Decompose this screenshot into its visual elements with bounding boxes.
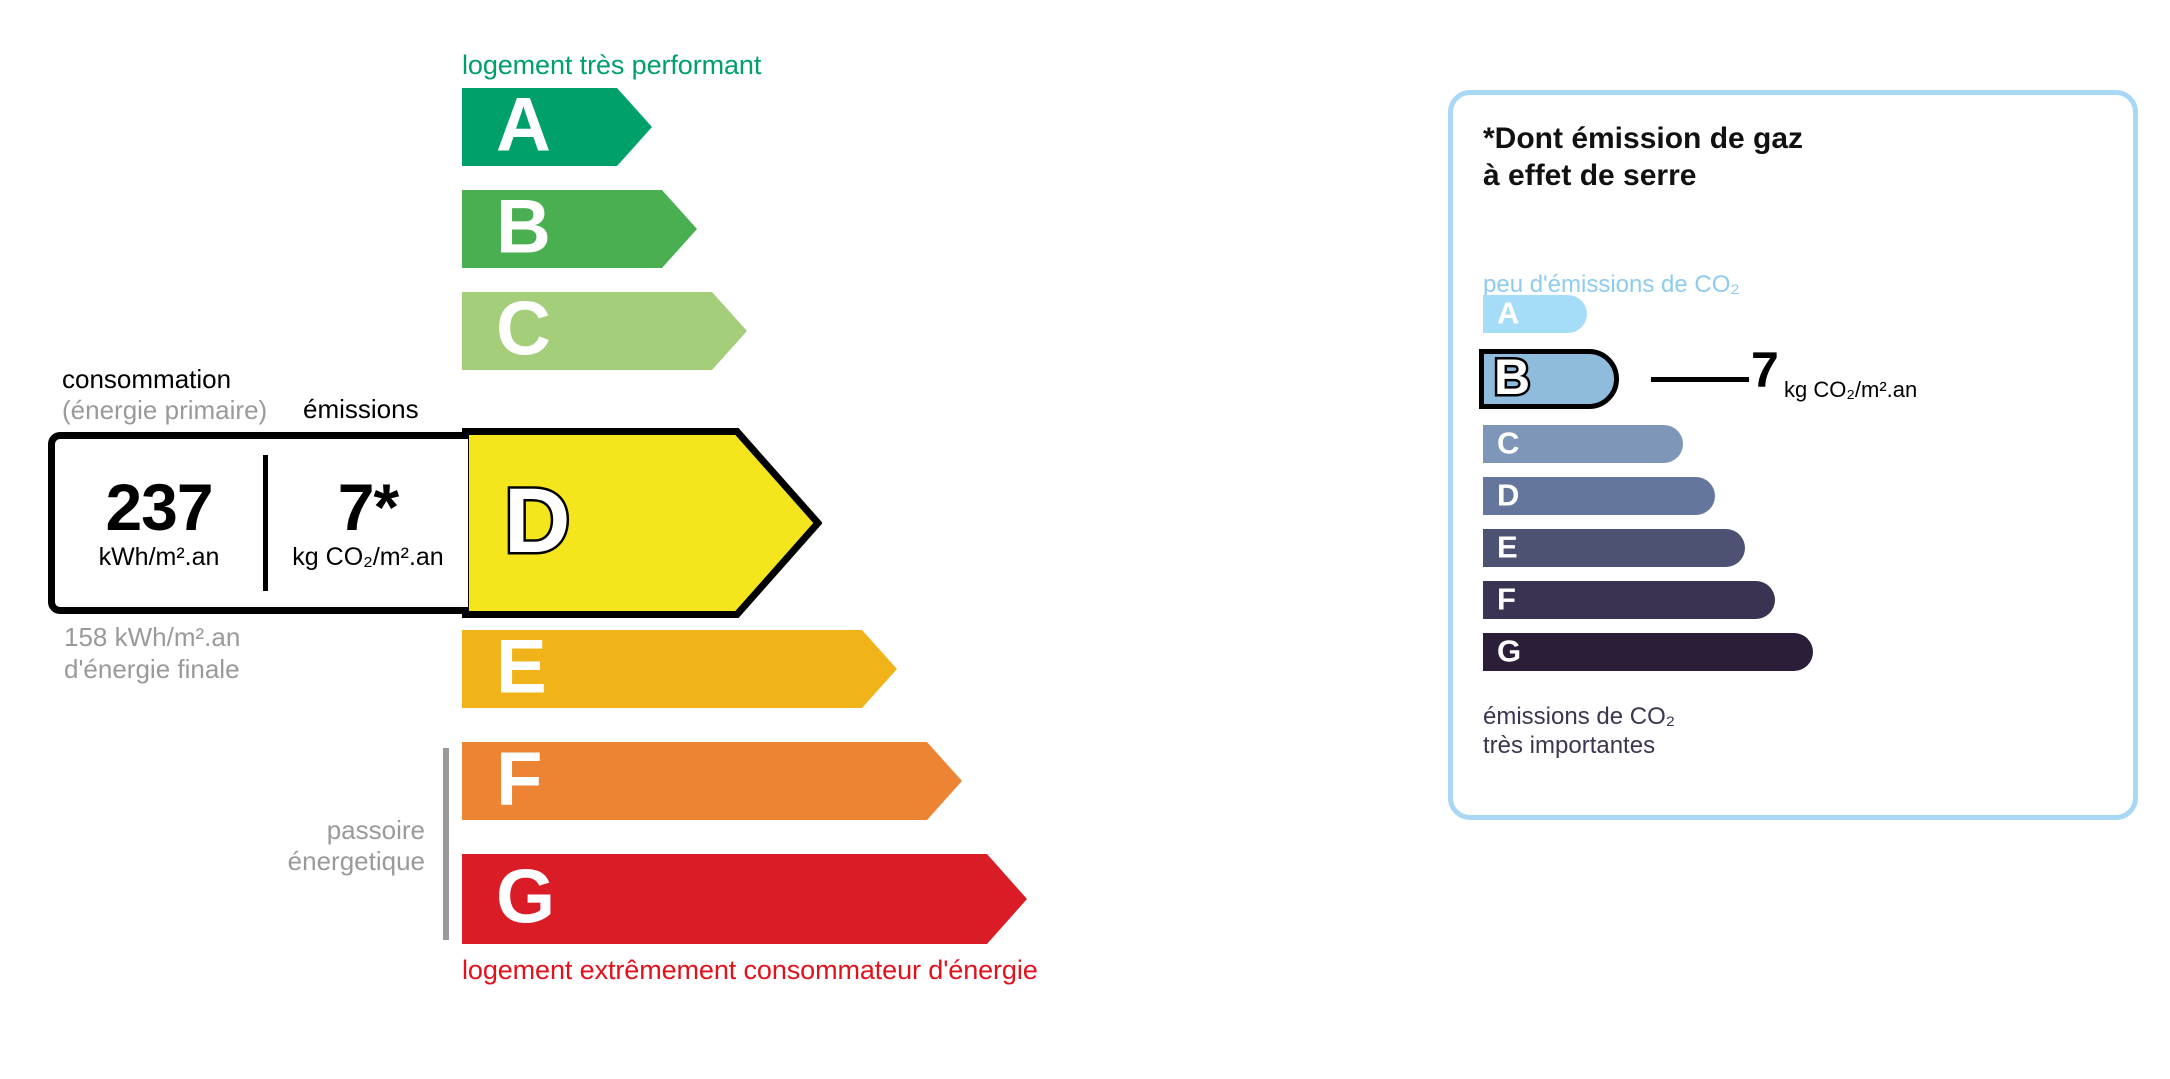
energy-arrow-a-shape <box>462 88 652 166</box>
co2-value: 7* <box>338 474 398 541</box>
co2-panel-title-line1: *Dont émission de gaz <box>1483 121 1803 158</box>
co2-bar-c: C <box>1483 425 1683 463</box>
passoire-label: passoire énergetique <box>200 815 425 877</box>
co2-bar-d-letter: D <box>1497 479 1519 510</box>
energy-arrow-g-shape <box>462 854 1027 944</box>
co2-bar-a-letter: A <box>1497 297 1519 328</box>
scale-top-label: logement très performant <box>462 50 761 81</box>
energy-value: 237 <box>105 474 212 541</box>
consumption-caption: consommation (énergie primaire) <box>62 364 267 425</box>
energy-bar-c: C <box>462 292 747 370</box>
consumption-caption-line2: (énergie primaire) <box>62 395 267 426</box>
co2-bottom-label-line1: émissions de CO₂ <box>1483 703 1675 732</box>
co2-bar-f: F <box>1483 581 1775 619</box>
co2-bar-d-shape: D <box>1483 477 1715 515</box>
energy-arrow-c-shape <box>462 292 747 370</box>
co2-bar-g-shape: G <box>1483 633 1813 671</box>
scale-bottom-label: logement extrêmement consommateur d'éner… <box>462 955 1038 986</box>
co2-measured-unit: kg CO₂/m².an <box>1784 377 1917 403</box>
energy-bar-a: A <box>462 88 652 166</box>
emissions-caption: émissions <box>303 394 419 425</box>
value-readout-box: 237 kWh/m².an 7* kg CO₂/m².an <box>48 432 468 614</box>
energy-arrow-e-shape <box>462 630 897 708</box>
co2-bottom-label-line2: très importantes <box>1483 732 1675 761</box>
co2-bar-e: E <box>1483 529 1745 567</box>
co2-bar-a: A <box>1483 295 1587 333</box>
co2-panel-title: *Dont émission de gaz à effet de serre <box>1483 121 1803 194</box>
co2-bar-e-letter: E <box>1497 531 1518 562</box>
co2-bar-a-shape: A <box>1483 295 1587 333</box>
co2-value-cell: 7* kg CO₂/m².an <box>268 439 468 607</box>
energy-bar-f: F <box>462 742 962 820</box>
co2-bar-f-shape: F <box>1483 581 1775 619</box>
co2-bar-d: D <box>1483 477 1715 515</box>
consumption-caption-line1: consommation <box>62 364 267 395</box>
final-energy-line1: 158 kWh/m².an <box>64 622 240 654</box>
co2-measured-value: 7 <box>1751 345 1779 395</box>
passoire-label-line2: énergetique <box>200 846 425 877</box>
co2-bar-g-letter: G <box>1497 635 1521 666</box>
final-energy-caption: 158 kWh/m².an d'énergie finale <box>64 622 240 685</box>
co2-leader-line <box>1651 377 1749 382</box>
co2-value-unit: kg CO₂/m².an <box>292 543 443 572</box>
energy-bar-e: E <box>462 630 897 708</box>
energy-bar-g: G <box>462 854 1027 944</box>
co2-bar-f-letter: F <box>1497 583 1516 614</box>
final-energy-line2: d'énergie finale <box>64 654 240 686</box>
co2-panel: *Dont émission de gaz à effet de serre p… <box>1448 90 2138 820</box>
energy-value-unit: kWh/m².an <box>99 543 220 572</box>
energy-arrow-b-shape <box>462 190 697 268</box>
energy-arrow-f-shape <box>462 742 962 820</box>
co2-bar-b-letter: B <box>1494 352 1530 402</box>
co2-bar-e-shape: E <box>1483 529 1745 567</box>
co2-panel-title-line2: à effet de serre <box>1483 158 1803 195</box>
energy-bar-d-selected: D <box>462 428 822 618</box>
passoire-bracket-line <box>443 748 449 940</box>
energy-bar-b: B <box>462 190 697 268</box>
co2-bar-g: G <box>1483 633 1813 671</box>
co2-bar-c-shape: C <box>1483 425 1683 463</box>
co2-bar-c-letter: C <box>1497 427 1519 458</box>
passoire-label-line1: passoire <box>200 815 425 846</box>
co2-bar-b-selected: B 7 kg CO₂/m².an <box>1479 349 1619 409</box>
energy-arrow-d-shape <box>462 428 822 618</box>
co2-bar-b-shape: B <box>1479 349 1619 409</box>
dpe-diagram: logement très performant A B C D E <box>0 0 2170 1079</box>
co2-bottom-label: émissions de CO₂ très importantes <box>1483 703 1675 761</box>
energy-value-cell: 237 kWh/m².an <box>55 439 263 607</box>
